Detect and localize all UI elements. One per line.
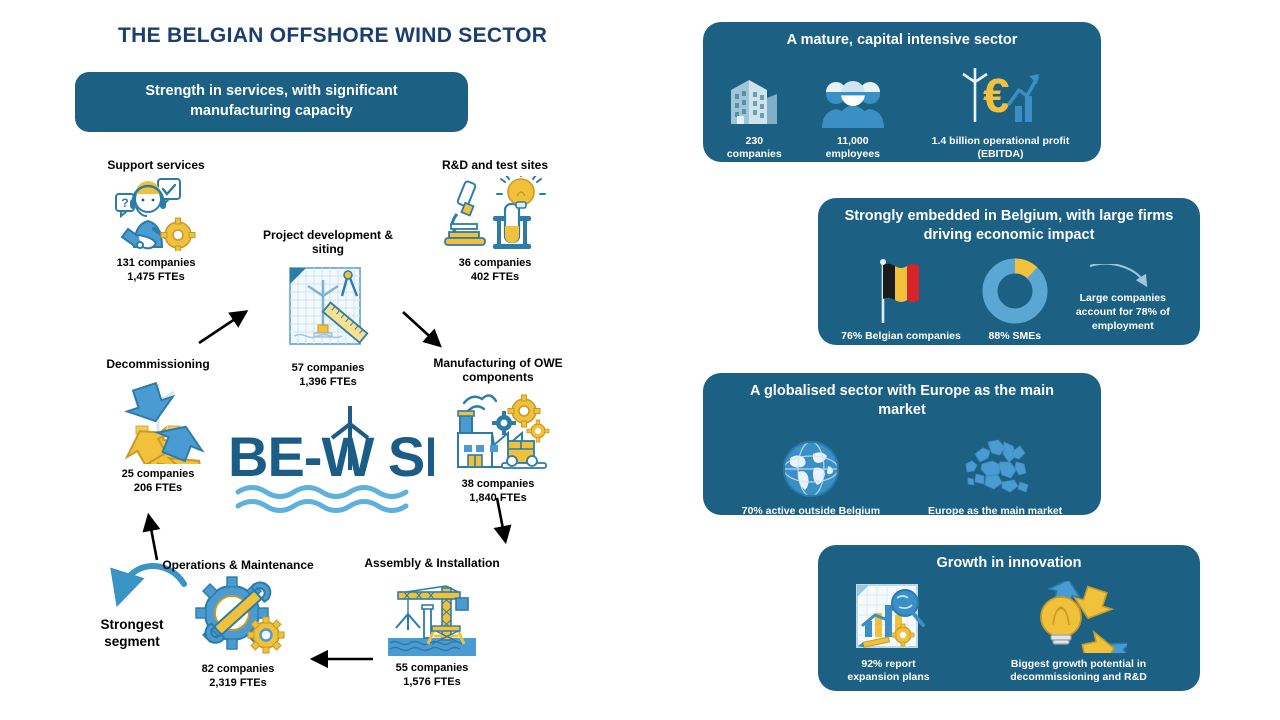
panel-item-europe-main-market: Europe as the main market xyxy=(928,426,1062,518)
lightbulb-recycle-icon xyxy=(975,579,1182,653)
node-companies: 25 companies xyxy=(78,468,238,482)
recycle-icon xyxy=(78,374,238,464)
panel-item-smes: 88% SMEs xyxy=(979,251,1051,343)
arrow-operations-to-decommissioning xyxy=(138,508,172,564)
cycle-node-manufacturing-owe-components: Manufacturing of OWE components xyxy=(418,356,578,505)
node-ftes: 1,475 FTEs xyxy=(76,271,236,285)
panel-item-label: 76% Belgian companies xyxy=(841,330,961,343)
node-companies: 55 companies xyxy=(352,662,512,676)
be-wise-wordmark: BE-W SE xyxy=(228,425,434,488)
panel-item-active-outside-belgium: 70% active outside Belgium xyxy=(742,426,880,518)
node-title: Project development & siting xyxy=(248,228,408,257)
panel-mature-capital-intensive-sector: A mature, capital intensive sector xyxy=(703,22,1101,162)
panel-item-growth-potential: Biggest growth potential in decommission… xyxy=(975,579,1182,684)
annotation-text: Large companies account for 78% of emplo… xyxy=(1076,292,1170,331)
microscope-lightbulb-icon xyxy=(415,175,575,253)
panel-growth-in-innovation: Growth in innovation xyxy=(818,545,1200,691)
panel-globalised-sector: A globalised sector with Europe as the m… xyxy=(703,373,1101,515)
panel-item-label: 230 companies xyxy=(721,135,788,161)
panel-item-label: 92% report expansion plans xyxy=(836,658,941,684)
node-title: Assembly & Installation xyxy=(352,556,512,570)
node-ftes: 2,319 FTEs xyxy=(158,677,318,691)
panel-item-employees: 11,000 employees xyxy=(814,56,892,161)
panel-item-label: Biggest growth potential in decommission… xyxy=(975,658,1182,684)
panel-title: A mature, capital intensive sector xyxy=(703,22,1101,52)
panel-item-label: 11,000 employees xyxy=(814,135,892,161)
panel-item-expansion-plans: 92% report expansion plans xyxy=(836,579,941,684)
euro-growth-icon: € xyxy=(918,56,1083,130)
growth-chart-magnifier-icon xyxy=(836,579,941,653)
node-title: R&D and test sites xyxy=(415,158,575,172)
arrow-support-to-projdev xyxy=(196,305,256,347)
panel-item-label: 88% SMEs xyxy=(979,330,1051,343)
panel-item-label: Europe as the main market xyxy=(928,505,1062,518)
infographic-page: THE BELGIAN OFFSHORE WIND SECTOR Strengt… xyxy=(0,0,1280,720)
panel-item-label: 70% active outside Belgium xyxy=(742,505,880,518)
panel-annotation: Large companies account for 78% of emplo… xyxy=(1069,260,1177,333)
node-ftes: 1,576 FTEs xyxy=(352,676,512,690)
cycle-node-rd-and-test-sites: R&D and test sites xyxy=(415,158,575,285)
office-building-icon xyxy=(721,56,788,130)
node-companies: 38 companies xyxy=(418,478,578,492)
globe-icon xyxy=(742,426,880,500)
node-ftes: 206 FTEs xyxy=(78,482,238,496)
europe-map-icon xyxy=(928,426,1062,500)
left-banner: Strength in services, with significant m… xyxy=(75,72,468,132)
node-title: Operations & Maintenance xyxy=(158,558,318,572)
panel-title: Strongly embedded in Belgium, with large… xyxy=(818,198,1200,247)
factory-icon xyxy=(418,388,578,474)
node-companies: 36 companies xyxy=(415,257,575,271)
cycle-node-operations-maintenance: Operations & Maintenance xyxy=(158,558,318,691)
node-companies: 57 companies xyxy=(248,362,408,376)
cycle-node-assembly-installation: Assembly & Installation xyxy=(352,556,512,690)
svg-text:?: ? xyxy=(121,196,128,210)
donut-chart-icon xyxy=(979,251,1051,325)
panel-item-belgian-companies: 76% Belgian companies xyxy=(841,251,961,343)
panel-strongly-embedded-in-belgium: Strongly embedded in Belgium, with large… xyxy=(818,198,1200,345)
gear-wrench-icon xyxy=(158,575,318,659)
panel-item-companies: 230 companies xyxy=(721,56,788,161)
cycle-node-decommissioning: Decommissioning xyxy=(78,357,238,496)
workers-group-icon xyxy=(814,56,892,130)
svg-text:€: € xyxy=(983,70,1010,123)
node-companies: 131 companies xyxy=(76,257,236,271)
left-banner-text: Strength in services, with significant m… xyxy=(105,82,438,121)
panel-title: Growth in innovation xyxy=(818,545,1200,575)
page-title: THE BELGIAN OFFSHORE WIND SECTOR xyxy=(118,24,547,48)
panel-title: A globalised sector with Europe as the m… xyxy=(703,373,1101,422)
annotation-arrow-icon xyxy=(1088,264,1158,290)
node-ftes: 1,396 FTEs xyxy=(248,376,408,390)
cycle-node-support-services: Support services ? xyxy=(76,158,236,285)
blueprint-icon xyxy=(248,260,408,358)
node-ftes: 1,840 FTEs xyxy=(418,492,578,506)
cycle-node-project-development-siting: Project development & siting xyxy=(248,228,408,389)
node-ftes: 402 FTEs xyxy=(415,271,575,285)
node-companies: 82 companies xyxy=(158,663,318,677)
crane-icon xyxy=(352,573,512,658)
support-agent-icon: ? xyxy=(76,175,236,253)
be-wise-logo: BE-W SE xyxy=(228,404,434,514)
panel-item-ebitda: € 1.4 billion operational profit (EBITDA… xyxy=(918,56,1083,161)
node-title: Support services xyxy=(76,158,236,172)
belgian-flag-icon xyxy=(841,251,961,325)
node-title: Manufacturing of OWE components xyxy=(418,356,578,385)
node-title: Decommissioning xyxy=(78,357,238,371)
panel-item-label: 1.4 billion operational profit (EBITDA) xyxy=(918,135,1083,161)
